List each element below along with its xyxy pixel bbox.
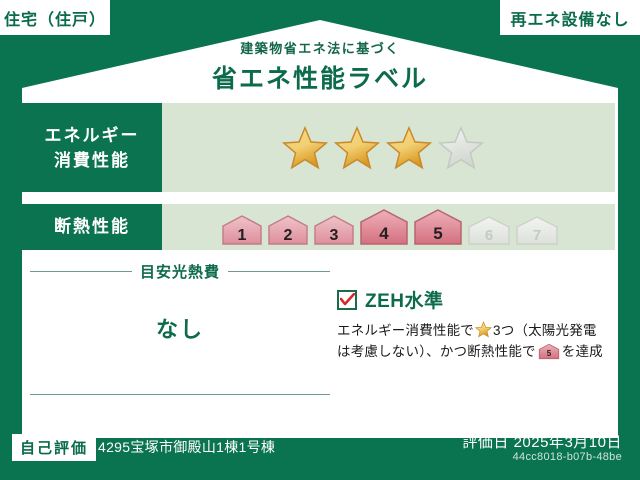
title-subtitle: 建築物省エネ法に基づく — [0, 38, 640, 57]
star-icon-inline — [475, 321, 492, 338]
svg-text:4: 4 — [379, 224, 389, 243]
utility-cost-value: なし — [30, 312, 330, 344]
heading-rule-left — [30, 271, 132, 272]
svg-text:7: 7 — [533, 227, 541, 244]
house-icon-level-4: 4 — [358, 207, 410, 247]
star-icon-filled-2 — [334, 125, 380, 171]
self-evaluation-badge: 自己評価 — [12, 434, 96, 461]
insulation-label-text: 断熱性能 — [54, 204, 130, 250]
house-icon-level-3: 3 — [312, 213, 356, 247]
utility-cost-heading: 目安光熱費 — [30, 261, 330, 282]
svg-text:1: 1 — [238, 227, 247, 244]
energy-performance-value-box — [162, 103, 615, 192]
star-icon-filled-1 — [282, 125, 328, 171]
svg-text:5: 5 — [433, 224, 442, 243]
badge-building-type: 住宅（住戸） — [0, 0, 110, 35]
zeh-checkbox[interactable] — [337, 290, 357, 310]
zeh-desc-part3: は考慮しない）、かつ断熱性能で — [337, 344, 536, 359]
zeh-block: ZEH水準 エネルギー消費性能で3つ（太陽光発電 は考慮しない）、かつ断熱性能で… — [337, 286, 622, 362]
energy-label-line2: 消費性能 — [54, 148, 130, 173]
star-rating — [282, 125, 484, 171]
house-icon-level-2: 2 — [266, 213, 310, 247]
utility-cost-block: 目安光熱費 なし — [30, 261, 330, 344]
star-icon-empty-4 — [438, 125, 484, 171]
energy-performance-row: エネルギー 消費性能 — [22, 103, 615, 192]
insulation-performance-row: 断熱性能 1 2 — [22, 204, 615, 250]
property-address: 4295宝塚市御殿山1棟1号棟 — [98, 437, 275, 457]
utility-cost-underline — [30, 394, 330, 395]
title-main: 省エネ性能ラベル — [0, 59, 640, 95]
label-footer: 自己評価 4295宝塚市御殿山1棟1号棟 評価日 2025年3月10日 44cc… — [0, 426, 640, 480]
zeh-title: ZEH水準 — [365, 286, 444, 313]
energy-performance-label-box: エネルギー 消費性能 — [22, 103, 162, 192]
utility-cost-heading-text: 目安光熱費 — [140, 261, 220, 282]
zeh-desc-part1: エネルギー消費性能で — [337, 323, 474, 338]
house-icon-level-7: 7 — [514, 213, 560, 247]
zeh-desc-part2: 3つ（太陽光発電 — [493, 323, 597, 338]
house-icon-inline-level-5: 5 — [538, 343, 560, 360]
svg-text:6: 6 — [485, 227, 493, 244]
heading-rule-right — [228, 271, 330, 272]
zeh-heading: ZEH水準 — [337, 286, 622, 313]
insulation-performance-label-box: 断熱性能 — [22, 204, 162, 250]
evaluation-date: 評価日 2025年3月10日 — [462, 431, 622, 452]
insulation-performance-value-box: 1 2 3 — [162, 204, 615, 250]
zeh-desc-part4: を達成 — [562, 344, 603, 359]
house-icon-level-1: 1 — [220, 213, 264, 247]
label-title-block: 建築物省エネ法に基づく 省エネ性能ラベル — [0, 38, 640, 95]
label-content-panel: エネルギー 消費性能 — [22, 96, 618, 426]
badge-renewable-energy: 再エネ設備なし — [500, 0, 640, 35]
zeh-description: エネルギー消費性能で3つ（太陽光発電 は考慮しない）、かつ断熱性能で 5を達成 — [337, 320, 622, 362]
star-icon-filled-3 — [386, 125, 432, 171]
svg-text:2: 2 — [284, 227, 293, 244]
house-icon-level-6: 6 — [466, 213, 512, 247]
check-icon — [340, 293, 355, 306]
house-icon-level-5: 5 — [412, 207, 464, 247]
energy-performance-label: 住宅（住戸） 再エネ設備なし 建築物省エネ法に基づく 省エネ性能ラベル エネルギ… — [0, 0, 640, 480]
svg-text:3: 3 — [330, 227, 339, 244]
label-id-code: 44cc8018-b07b-48be — [513, 451, 622, 463]
energy-label-line1: エネルギー — [45, 123, 140, 148]
insulation-level-scale: 1 2 3 — [220, 207, 560, 247]
svg-text:5: 5 — [546, 349, 551, 358]
